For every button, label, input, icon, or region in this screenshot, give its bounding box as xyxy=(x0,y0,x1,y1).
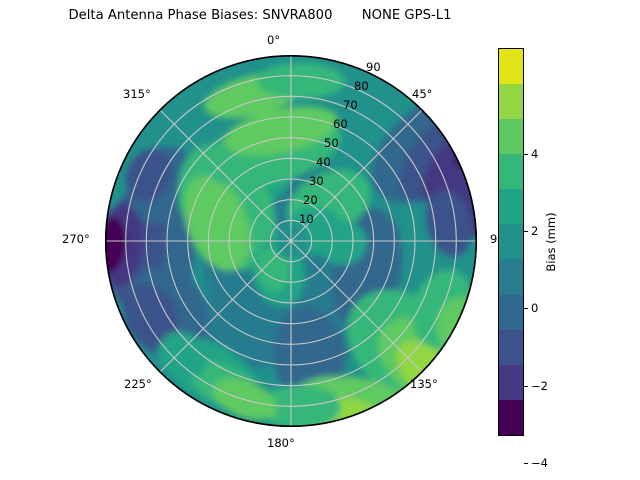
colorbar: 4 2 0 −2 −4 xyxy=(498,48,524,436)
colorbar-label-0: 0 xyxy=(531,301,538,315)
colorbar-band-10 xyxy=(499,400,523,435)
colorbar-label-4: 4 xyxy=(531,147,538,161)
colorbar-band-5 xyxy=(499,224,523,259)
theta-label-270: 270° xyxy=(62,232,90,246)
colorbar-tick-neg4 xyxy=(524,463,528,464)
theta-label-225: 225° xyxy=(124,377,152,391)
theta-label-45: 45° xyxy=(412,87,432,101)
colorbar-band-1 xyxy=(499,84,523,119)
colorbar-tick-neg2 xyxy=(524,386,528,387)
colorbar-label-neg2: −2 xyxy=(531,379,548,393)
theta-label-315: 315° xyxy=(123,87,151,101)
r-label-10: 10 xyxy=(299,212,314,226)
colorbar-tick-2 xyxy=(524,231,528,232)
colorbar-band-4 xyxy=(499,189,523,224)
r-label-90: 90 xyxy=(366,60,381,74)
colorbar-tick-4 xyxy=(524,154,528,155)
colorbar-band-6 xyxy=(499,259,523,294)
polar-axes: 0° 45° 90 135° 180° 225° 270° 315° 10 20… xyxy=(105,55,477,427)
theta-label-0: 0° xyxy=(267,33,280,47)
r-label-40: 40 xyxy=(316,155,331,169)
colorbar-band-2 xyxy=(499,119,523,154)
colorbar-label-neg4: −4 xyxy=(531,456,548,470)
r-label-50: 50 xyxy=(324,136,339,150)
theta-label-135: 135° xyxy=(410,377,438,391)
colorbar-label-2: 2 xyxy=(531,224,538,238)
figure-canvas: Delta Antenna Phase Biases: SNVRA800 NON… xyxy=(0,0,640,480)
r-label-20: 20 xyxy=(303,193,318,207)
r-label-80: 80 xyxy=(354,79,369,93)
colorbar-band-0 xyxy=(499,49,523,84)
r-label-70: 70 xyxy=(343,98,358,112)
r-label-30: 30 xyxy=(309,174,324,188)
polar-grid xyxy=(105,55,477,427)
polar-contour-plot xyxy=(105,55,477,427)
colorbar-band-7 xyxy=(499,295,523,330)
colorbar-tick-0 xyxy=(524,308,528,309)
colorbar-gradient xyxy=(498,48,524,436)
colorbar-axis-label: Bias (mm) xyxy=(544,212,558,271)
theta-label-180: 180° xyxy=(267,436,295,450)
figure-title: Delta Antenna Phase Biases: SNVRA800 NON… xyxy=(0,8,520,23)
colorbar-band-3 xyxy=(499,154,523,189)
colorbar-band-9 xyxy=(499,365,523,400)
colorbar-band-8 xyxy=(499,330,523,365)
r-label-60: 60 xyxy=(333,117,348,131)
